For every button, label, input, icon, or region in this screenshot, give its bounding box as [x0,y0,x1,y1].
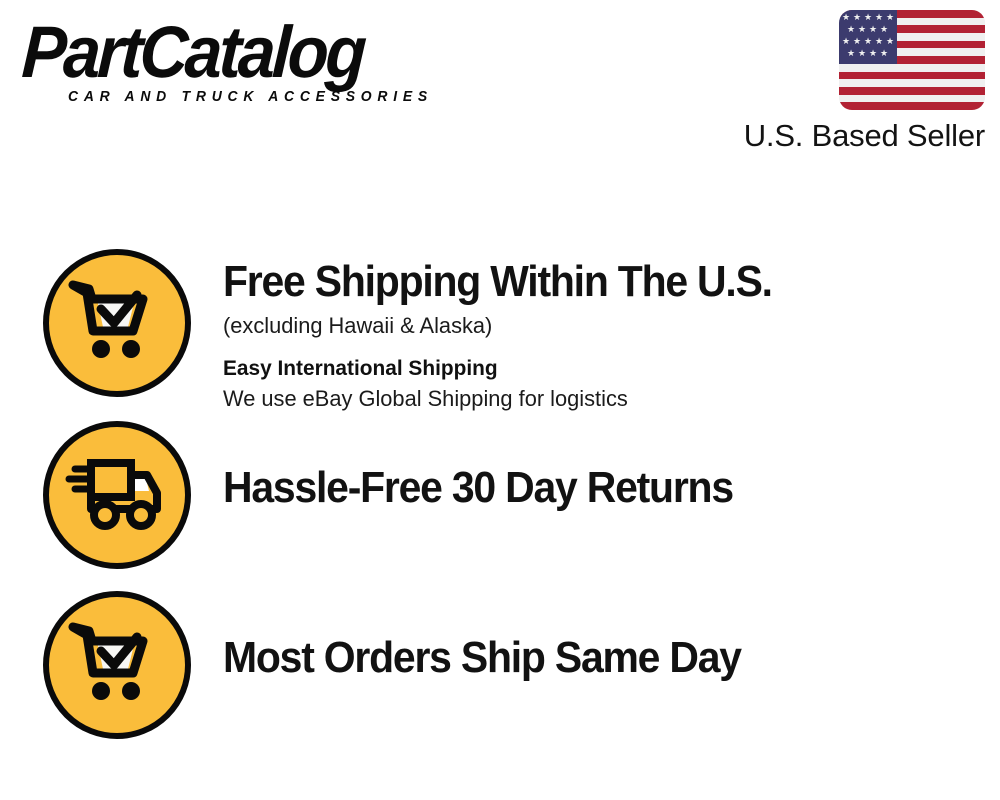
flag-stripe [839,64,985,72]
feature-subtext-secondary: We use eBay Global Shipping for logistic… [223,384,977,414]
shopping-cart-check-icon [43,249,191,397]
us-flag-icon: ★ ★ ★ ★ ★ ★ ★ ★ ★ ★ ★ ★ ★ ★ ★ ★ ★ [839,10,985,110]
shopping-cart-check-icon [43,591,191,739]
banner-header: PartCatalog CAR AND TRUCK ACCESSORIES [0,0,1000,175]
feature-heading: Hassle-Free 30 Day Returns [223,463,946,513]
flag-stripe [839,72,985,80]
brand-tagline: CAR AND TRUCK ACCESSORIES [68,89,475,105]
feature-heading: Free Shipping Within The U.S. [223,257,946,307]
feature-text-block: Hassle-Free 30 Day Returns [223,421,1000,513]
feature-row-free-shipping: Free Shipping Within The U.S. (excluding… [0,249,1000,414]
flag-stripe [839,102,985,110]
flag-canton: ★ ★ ★ ★ ★ ★ ★ ★ ★ ★ ★ ★ ★ ★ ★ ★ ★ [839,10,897,64]
feature-text-block: Free Shipping Within The U.S. (excluding… [223,249,1000,414]
feature-row-returns: Hassle-Free 30 Day Returns [0,421,1000,569]
brand-wordmark: PartCatalog [20,18,456,87]
delivery-truck-icon [43,421,191,569]
us-based-seller-badge: ★ ★ ★ ★ ★ ★ ★ ★ ★ ★ ★ ★ ★ ★ ★ ★ ★ [715,10,985,153]
flag-stripe [839,95,985,103]
shipping-info-banner: PartCatalog CAR AND TRUCK ACCESSORIES [0,0,1000,800]
feature-text-block: Most Orders Ship Same Day [223,591,1000,683]
flag-stripe [839,87,985,95]
seller-location-label: U.S. Based Seller [715,119,985,153]
feature-heading: Most Orders Ship Same Day [223,633,946,683]
brand-logo: PartCatalog CAR AND TRUCK ACCESSORIES [22,18,492,105]
flag-stripe [839,79,985,87]
feature-subheading: Easy International Shipping [223,354,977,383]
feature-subtext: (excluding Hawaii & Alaska) [223,311,977,341]
feature-row-same-day-shipping: Most Orders Ship Same Day [0,591,1000,739]
